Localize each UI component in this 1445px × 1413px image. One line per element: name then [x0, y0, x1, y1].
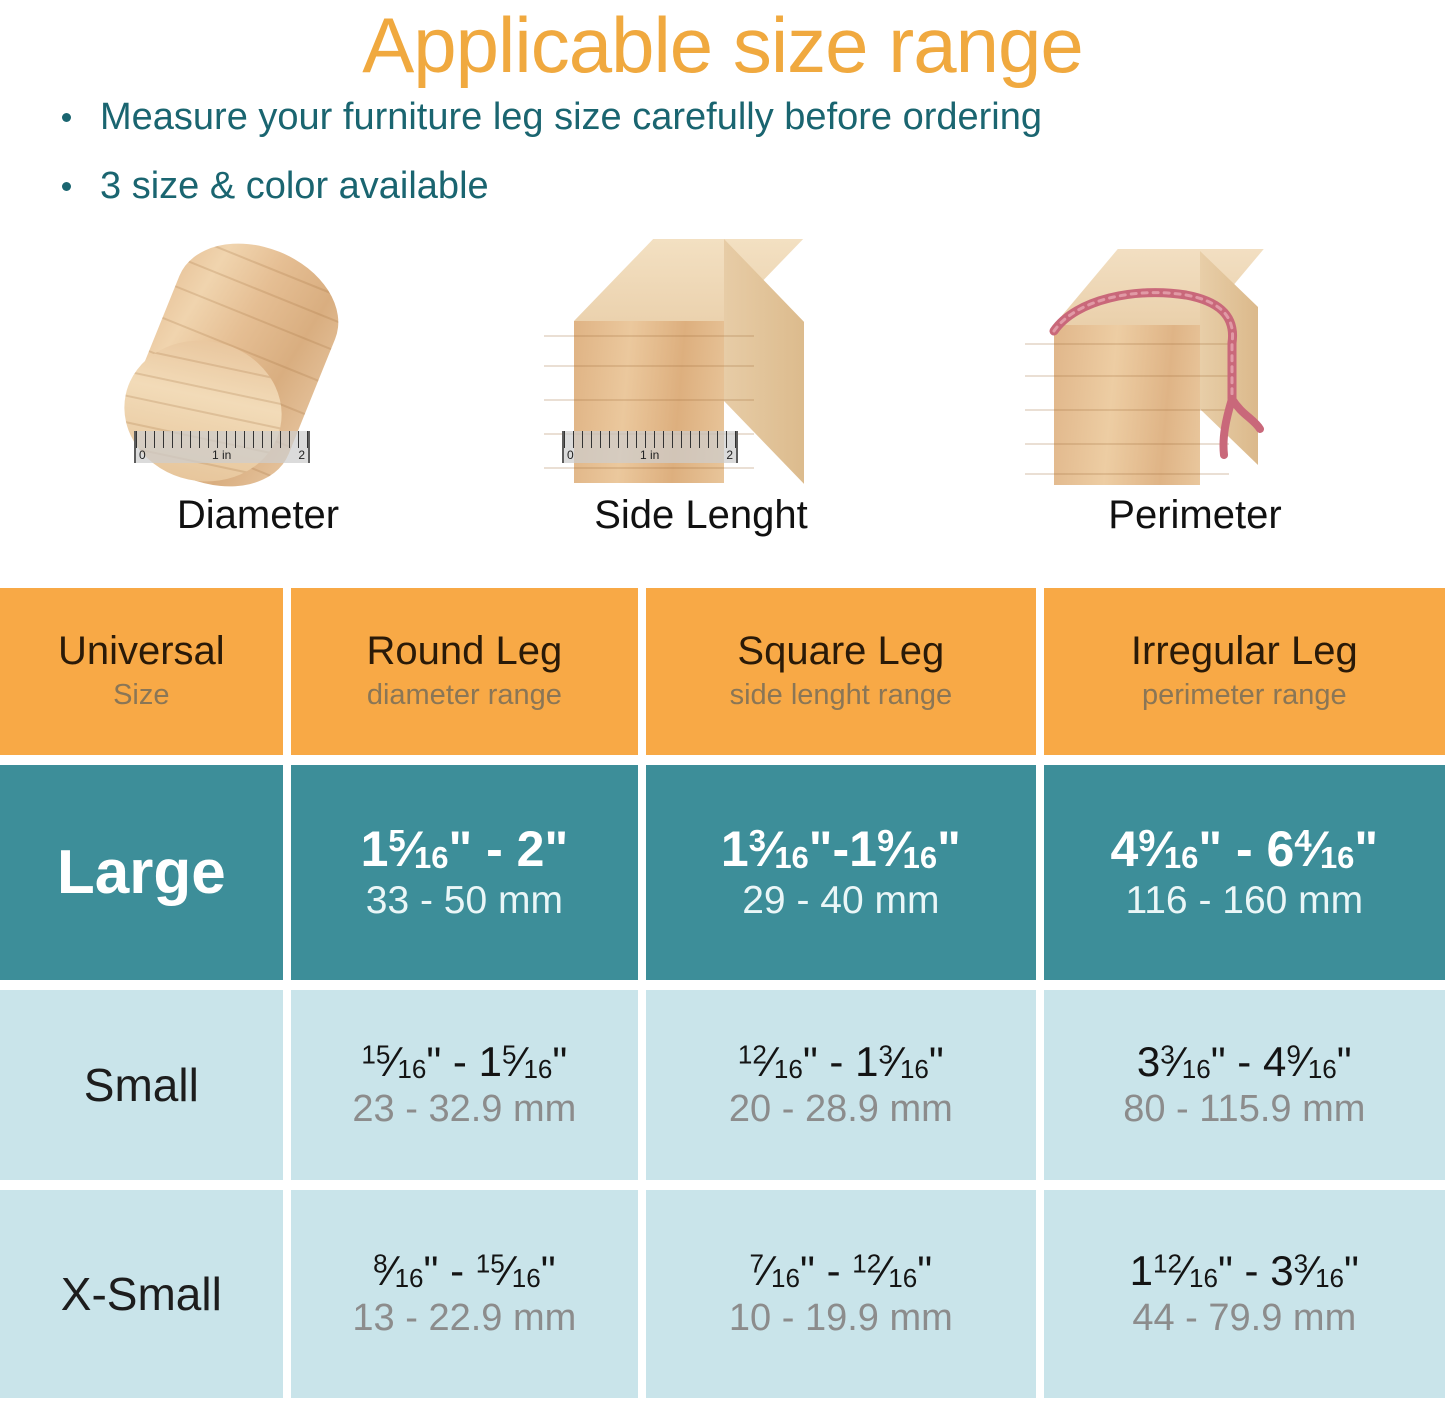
numerator-a: 7: [750, 1249, 764, 1279]
numerator-b: 9: [1286, 1040, 1300, 1070]
denominator-a: 16: [414, 840, 448, 875]
range-separator: -: [1226, 1038, 1263, 1085]
denominator-a: 16: [774, 840, 808, 875]
whole-a: 4: [1110, 821, 1138, 877]
bullet-list: Measure your furniture leg size carefull…: [0, 96, 1445, 207]
denominator-a: 16: [1164, 840, 1198, 875]
range-separator: -: [472, 821, 516, 877]
range-separator: -: [833, 821, 850, 877]
size-label-cell: X-Small: [0, 1190, 283, 1398]
bullet-dot-icon: [62, 182, 71, 191]
inch-mark-a: ": [424, 1247, 439, 1294]
whole-a: 1: [721, 821, 749, 877]
whole-a: 3: [1137, 1038, 1160, 1085]
range-separator: -: [1222, 821, 1266, 877]
illustration-perimeter: Perimeter: [1040, 233, 1350, 535]
whole-a: 1: [1130, 1247, 1153, 1294]
rope-icon: [1046, 269, 1264, 459]
illustration-diameter: 0 1 in 2 Diameter: [108, 233, 408, 535]
denominator-a: 16: [395, 1263, 424, 1293]
value-cell-square-small: 12⁄16" - 13⁄16" 20 - 28.9 mm: [646, 990, 1035, 1180]
whole-b: 6: [1267, 821, 1295, 877]
column-subtitle: perimeter range: [1142, 678, 1347, 713]
column-title: Round Leg: [367, 630, 563, 672]
value-cell-round-large: 15⁄16" - 2" 33 - 50 mm: [291, 765, 639, 980]
inch-mark-a: ": [800, 1247, 815, 1294]
inch-range: 15⁄16" - 2": [361, 823, 569, 876]
fraction-b: 15⁄16": [476, 1248, 556, 1293]
inch-mark-b: ": [541, 1247, 556, 1294]
numerator-b: 12: [852, 1249, 881, 1279]
inch-mark-b: ": [1344, 1247, 1359, 1294]
ruler-tick-0: 0: [567, 448, 574, 462]
table-header-row: Universal Size Round Leg diameter range …: [0, 588, 1445, 755]
inch-mark-a: ": [803, 1038, 818, 1085]
size-chart-table: Universal Size Round Leg diameter range …: [0, 588, 1445, 1408]
numerator-a: 9: [1138, 823, 1155, 858]
illustration-row: 0 1 in 2 Diameter 0 1: [0, 233, 1445, 563]
mm-range: 13 - 22.9 mm: [352, 1298, 576, 1340]
inch-mark-b: ": [552, 1038, 567, 1085]
bullet-item: 3 size & color available: [52, 165, 1445, 208]
size-name: Large: [57, 842, 226, 904]
value-cell-round-small: 15⁄16" - 15⁄16" 23 - 32.9 mm: [291, 990, 639, 1180]
inch-mark-a: ": [448, 821, 472, 877]
denominator-b: 16: [888, 1263, 917, 1293]
fraction-a: 33⁄16": [1137, 1039, 1226, 1084]
page-title: Applicable size range: [0, 0, 1445, 84]
fraction-a: 7⁄16": [750, 1248, 815, 1293]
value-cell-irregular-small: 33⁄16" - 49⁄16" 80 - 115.9 mm: [1044, 990, 1445, 1180]
square-leg-icon: 0 1 in 2: [556, 233, 846, 493]
numerator-b: 5: [502, 1040, 516, 1070]
size-label-cell: Large: [0, 765, 283, 980]
mm-range: 116 - 160 mm: [1125, 880, 1363, 923]
numerator-b: 3: [1294, 1249, 1308, 1279]
mm-range: 33 - 50 mm: [366, 880, 563, 923]
denominator-b: 16: [512, 1263, 541, 1293]
denominator-a: 16: [774, 1054, 803, 1084]
fraction-a: 15⁄16": [361, 823, 473, 876]
whole-b: 1: [479, 1038, 502, 1085]
size-name: X-Small: [61, 1271, 222, 1317]
table-header-square-leg: Square Leg side lenght range: [646, 588, 1035, 755]
inch-mark-a: ": [1211, 1038, 1226, 1085]
inch-range: 33⁄16" - 49⁄16": [1137, 1039, 1352, 1084]
numerator-a: 15: [361, 1040, 390, 1070]
denominator-b: 16: [1308, 1054, 1337, 1084]
bullet-text: Measure your furniture leg size carefull…: [100, 96, 1042, 138]
value-cell-square-large: 13⁄16"-19⁄16" 29 - 40 mm: [646, 765, 1035, 980]
denominator-b: 16: [523, 1054, 552, 1084]
range-separator: -: [438, 1247, 475, 1294]
inch-mark-b: ": [937, 821, 961, 877]
inch-range: 49⁄16" - 64⁄16": [1110, 823, 1378, 876]
whole-b: 4: [1263, 1038, 1286, 1085]
inch-range: 12⁄16" - 13⁄16": [738, 1039, 944, 1084]
fraction-a: 12⁄16": [738, 1039, 818, 1084]
whole-b: 2: [517, 821, 545, 877]
range-separator: -: [815, 1247, 852, 1294]
inch-range: 15⁄16" - 15⁄16": [361, 1039, 567, 1084]
numerator-b: 9: [877, 823, 894, 858]
denominator-b: 16: [1320, 840, 1354, 875]
inch-mark-b: ": [1337, 1038, 1352, 1085]
numerator-b: 15: [476, 1249, 505, 1279]
mm-range: 44 - 79.9 mm: [1132, 1298, 1356, 1340]
ruler-tick-1: 1 in: [212, 448, 231, 462]
bullet-text: 3 size & color available: [100, 165, 489, 207]
column-title: Square Leg: [737, 630, 944, 672]
illustration-side-lenght: 0 1 in 2 Side Lenght: [556, 233, 846, 535]
fraction-a: 13⁄16": [721, 823, 833, 876]
value-cell-irregular-large: 49⁄16" - 64⁄16" 116 - 160 mm: [1044, 765, 1445, 980]
bullet-item: Measure your furniture leg size carefull…: [52, 96, 1445, 139]
inch-mark-a: ": [426, 1038, 441, 1085]
inch-mark-a: ": [809, 821, 833, 877]
whole-b: 1: [855, 1038, 878, 1085]
numerator-a: 3: [749, 823, 766, 858]
illustration-label: Diameter: [108, 495, 408, 535]
denominator-a: 16: [1189, 1263, 1218, 1293]
round-leg-icon: 0 1 in 2: [108, 233, 408, 493]
whole-b: 1: [849, 821, 877, 877]
table-header-universal-size: Universal Size: [0, 588, 283, 755]
range-separator: -: [441, 1038, 478, 1085]
table-row-large: Large 15⁄16" - 2" 33 - 50 mm 13⁄16"-19⁄1…: [0, 765, 1445, 980]
mm-range: 80 - 115.9 mm: [1123, 1089, 1365, 1131]
size-label-cell: Small: [0, 990, 283, 1180]
mm-range: 23 - 32.9 mm: [352, 1089, 576, 1131]
ruler-tick-0: 0: [139, 448, 146, 462]
fraction-b: 33⁄16": [1270, 1248, 1359, 1293]
numerator-a: 12: [738, 1040, 767, 1070]
fraction-a: 15⁄16": [361, 1039, 441, 1084]
illustration-label: Perimeter: [1040, 495, 1350, 535]
irregular-leg-icon: [1040, 233, 1350, 493]
inch-range: 112⁄16" - 33⁄16": [1130, 1248, 1359, 1293]
fraction-b: 2": [517, 823, 569, 876]
value-cell-square-xsmall: 7⁄16" - 12⁄16" 10 - 19.9 mm: [646, 1190, 1035, 1398]
value-cell-round-xsmall: 8⁄16" - 15⁄16" 13 - 22.9 mm: [291, 1190, 639, 1398]
whole-a: 1: [361, 821, 389, 877]
fraction-b: 15⁄16": [479, 1039, 568, 1084]
fraction-a: 112⁄16": [1130, 1248, 1233, 1293]
column-subtitle: side lenght range: [730, 678, 953, 713]
fraction-b: 13⁄16": [855, 1039, 944, 1084]
numerator-b: 3: [878, 1040, 892, 1070]
size-name: Small: [84, 1062, 199, 1108]
inch-mark-b: ": [1354, 821, 1378, 877]
bullet-dot-icon: [62, 113, 71, 122]
ruler-tick-2: 2: [726, 448, 733, 462]
numerator-a: 8: [373, 1249, 387, 1279]
illustration-label: Side Lenght: [556, 495, 846, 535]
column-subtitle: diameter range: [367, 678, 562, 713]
numerator-b: 4: [1294, 823, 1311, 858]
inch-range: 13⁄16"-19⁄16": [721, 823, 961, 876]
ruler-icon: 0 1 in 2: [562, 431, 738, 463]
table-header-irregular-leg: Irregular Leg perimeter range: [1044, 588, 1445, 755]
inch-mark-b: ": [929, 1038, 944, 1085]
fraction-b: 49⁄16": [1263, 1039, 1352, 1084]
value-cell-irregular-xsmall: 112⁄16" - 33⁄16" 44 - 79.9 mm: [1044, 1190, 1445, 1398]
denominator-b: 16: [900, 1054, 929, 1084]
denominator-a: 16: [1182, 1054, 1211, 1084]
inch-mark-a: ": [1198, 821, 1222, 877]
ruler-tick-2: 2: [298, 448, 305, 462]
numerator-a: 5: [388, 823, 405, 858]
fraction-a: 8⁄16": [373, 1248, 438, 1293]
mm-range: 29 - 40 mm: [742, 880, 939, 923]
denominator-a: 16: [771, 1263, 800, 1293]
whole-b: 3: [1270, 1247, 1293, 1294]
range-separator: -: [818, 1038, 855, 1085]
fraction-a: 49⁄16": [1110, 823, 1222, 876]
denominator-b: 16: [1315, 1263, 1344, 1293]
denominator-a: 16: [397, 1054, 426, 1084]
table-row-xsmall: X-Small 8⁄16" - 15⁄16" 13 - 22.9 mm 7⁄16…: [0, 1190, 1445, 1398]
table-row-small: Small 15⁄16" - 15⁄16" 23 - 32.9 mm 12⁄16…: [0, 990, 1445, 1180]
table-header-round-leg: Round Leg diameter range: [291, 588, 639, 755]
column-subtitle: Size: [113, 678, 169, 713]
column-title: Irregular Leg: [1131, 630, 1358, 672]
mm-range: 20 - 28.9 mm: [729, 1089, 953, 1131]
fraction-b: 12⁄16": [852, 1248, 932, 1293]
denominator-b: 16: [903, 840, 937, 875]
ruler-tick-1: 1 in: [640, 448, 659, 462]
inch-mark-a: ": [1218, 1247, 1233, 1294]
inch-range: 8⁄16" - 15⁄16": [373, 1248, 556, 1293]
ruler-icon: 0 1 in 2: [134, 431, 310, 463]
inch-mark-b: ": [917, 1247, 932, 1294]
numerator-a: 3: [1160, 1040, 1174, 1070]
column-title: Universal: [58, 630, 225, 672]
fraction-b: 64⁄16": [1267, 823, 1379, 876]
inch-range: 7⁄16" - 12⁄16": [750, 1248, 933, 1293]
fraction-b: 19⁄16": [849, 823, 961, 876]
range-separator: -: [1233, 1247, 1270, 1294]
inch-mark-b: ": [544, 821, 568, 877]
numerator-a: 12: [1153, 1249, 1182, 1279]
mm-range: 10 - 19.9 mm: [729, 1298, 953, 1340]
